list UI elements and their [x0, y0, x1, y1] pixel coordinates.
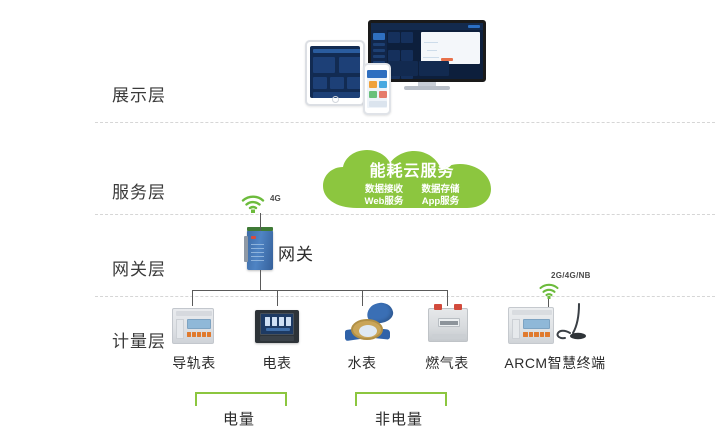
link-gateway-to-cloud	[260, 213, 261, 231]
dashboard-bottom-widgets	[388, 61, 480, 76]
divider-display-service	[95, 122, 715, 123]
cloud-feature-web-service: Web服务	[365, 196, 404, 208]
cloud-service-node: 能耗云服务 数据接收 Web服务 数据存储 App服务	[317, 148, 507, 212]
cloud-feature-data-storage: 数据存储	[421, 184, 459, 196]
cloud-text-block: 能耗云服务 数据接收 Web服务 数据存储 App服务	[317, 148, 507, 212]
cloud-feature-data-receive: 数据接收	[365, 184, 404, 196]
divider-gateway-metering	[95, 296, 715, 297]
dashboard-topbar	[371, 23, 483, 30]
gateway-label: 网关	[278, 240, 314, 265]
meter-label-din-rail: 导轨表	[152, 353, 236, 373]
water-meter-icon	[345, 303, 393, 345]
wifi-signal-icon	[240, 193, 266, 213]
drop-line-din-rail	[192, 290, 193, 306]
drop-line-gas	[447, 290, 448, 306]
tablet-home-button	[332, 96, 339, 103]
electricity-meter-icon	[255, 310, 299, 343]
layer-label-service: 服务层	[112, 178, 166, 203]
layer-label-metering: 计量层	[112, 327, 166, 352]
layer-label-gateway: 网关层	[112, 255, 166, 280]
bracket-non-electric-group	[355, 392, 447, 406]
group-label-electric: 电量	[195, 408, 283, 429]
architecture-diagram: 展示层 服务层 网关层 计量层	[0, 0, 715, 443]
gas-meter-icon	[428, 308, 468, 342]
drop-line-electricity	[277, 290, 278, 306]
monitor-stand	[404, 86, 450, 90]
cloud-feature-col-right: 数据存储 App服务	[421, 184, 459, 208]
din-rail-meter-icon	[172, 308, 214, 344]
trunk-line	[192, 290, 447, 291]
cloud-feature-col-left: 数据接收 Web服务	[365, 184, 404, 208]
meter-label-water: 水表	[320, 353, 404, 373]
bracket-electric-group	[195, 392, 287, 406]
dashboard-map-panel	[421, 32, 480, 64]
arcm-terminal-icon	[508, 307, 554, 344]
phone-screen	[367, 70, 387, 108]
antenna-icon	[556, 300, 586, 346]
gateway-device	[247, 230, 273, 270]
cloud-title: 能耗云服务	[369, 157, 454, 181]
meter-label-electricity: 电表	[235, 353, 319, 373]
divider-service-gateway	[95, 214, 715, 215]
cloud-feature-app-service: App服务	[421, 196, 459, 208]
link-gateway-to-trunk	[260, 270, 261, 290]
gateway-led	[251, 236, 256, 239]
arcm-network-tag: 2G/4G/NB	[551, 271, 591, 280]
tablet-device	[305, 40, 365, 106]
tablet-screen	[310, 46, 360, 98]
smartphone-device	[363, 63, 391, 115]
layer-label-display: 展示层	[112, 81, 166, 106]
gateway-network-tag: 4G	[270, 194, 281, 203]
arcm-terminal-label: ARCM智慧终端	[490, 353, 620, 373]
group-label-non-electric: 非电量	[355, 408, 443, 429]
meter-label-gas: 燃气表	[405, 353, 489, 373]
wifi-signal-icon-arcm	[538, 282, 560, 299]
cloud-features: 数据接收 Web服务 数据存储 App服务	[365, 184, 460, 208]
